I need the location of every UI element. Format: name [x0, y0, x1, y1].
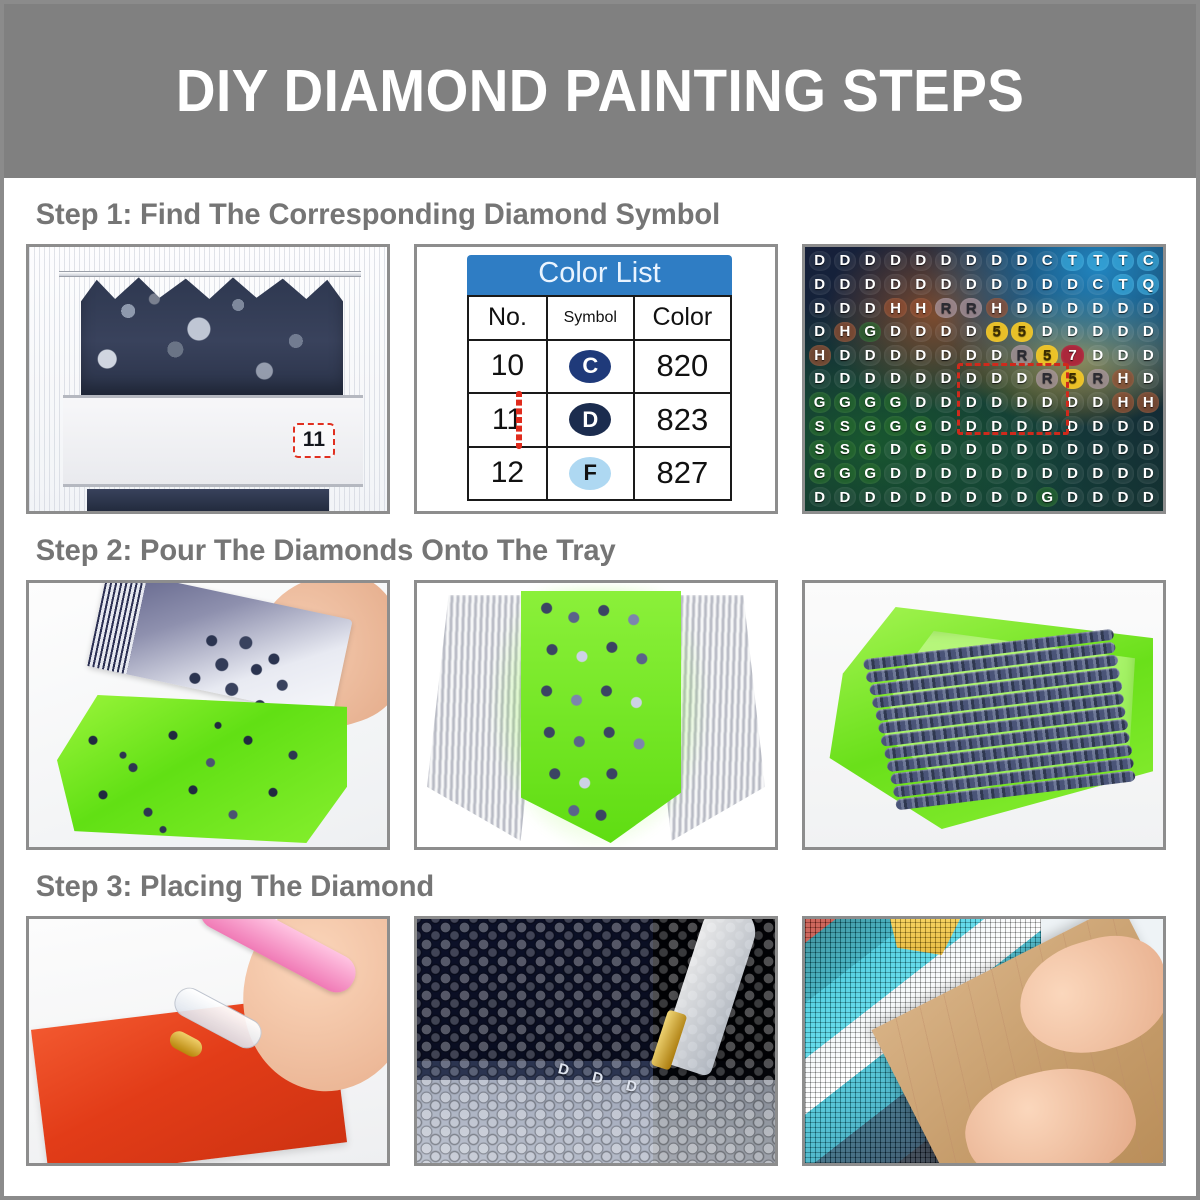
chart-cell: D [1110, 320, 1135, 344]
chart-cell: R [959, 296, 984, 320]
chart-cell: H [984, 296, 1009, 320]
chart-cell: D [1085, 485, 1110, 509]
chart-cell: D [832, 367, 857, 391]
chart-cell: D [858, 249, 883, 273]
chart-cell: D [959, 438, 984, 462]
cell-symbol: C [547, 340, 634, 393]
chart-cell: D [1136, 344, 1161, 368]
chart-cell: D [883, 485, 908, 509]
chart-cell: C [1085, 273, 1110, 297]
cell-color-code: 820 [634, 340, 731, 393]
chart-cell: D [984, 273, 1009, 297]
chart-cell: D [1085, 320, 1110, 344]
chart-cell: D [959, 485, 984, 509]
chart-cell: G [883, 391, 908, 415]
chart-cell: D [1060, 320, 1085, 344]
chart-cell: G [858, 462, 883, 486]
chart-cell: D [908, 273, 933, 297]
chart-cell: D [908, 367, 933, 391]
chart-cell: D [1009, 438, 1034, 462]
chart-cell: D [933, 485, 958, 509]
chart-cell: D [832, 344, 857, 368]
chart-cell: D [933, 462, 958, 486]
chart-cell: D [807, 296, 832, 320]
chart-cell: D [883, 320, 908, 344]
chart-cell: D [1035, 462, 1060, 486]
chart-cell: G [908, 438, 933, 462]
panel-shake-tray [414, 580, 778, 850]
chart-cell: G [858, 391, 883, 415]
step-2-panels [26, 580, 1174, 850]
chart-cell: H [832, 320, 857, 344]
chart-cell: G [858, 438, 883, 462]
chart-cell: C [1035, 249, 1060, 273]
chart-cell: D [807, 320, 832, 344]
chart-cell: D [1060, 438, 1085, 462]
chart-cell: R [933, 296, 958, 320]
panel-pour-into-tray [26, 580, 390, 850]
chart-highlight-box [957, 363, 1069, 435]
chart-cell: D [959, 462, 984, 486]
chart-cell: D [858, 296, 883, 320]
chart-cell: D [1136, 296, 1161, 320]
chart-cell: D [858, 367, 883, 391]
chart-cell: D [832, 273, 857, 297]
chart-cell: G [807, 462, 832, 486]
chart-cell: D [959, 273, 984, 297]
chart-cell: G [832, 462, 857, 486]
step-1-heading: Step 1: Find The Corresponding Diamond S… [26, 182, 1140, 244]
panel-pen-wax-pad [26, 916, 390, 1166]
chart-cell: D [832, 249, 857, 273]
chart-cell: D [1009, 485, 1034, 509]
page-title: DIY DIAMOND PAINTING STEPS [176, 57, 1024, 125]
chart-cell: D [1009, 462, 1034, 486]
step-2-block: Step 2: Pour The Diamonds Onto The Tray [26, 518, 1174, 850]
scattered-diamonds-in-tray [73, 713, 323, 837]
column-header-symbol: Symbol [547, 296, 634, 340]
step-3-block: Step 3: Placing The Diamond [26, 854, 1174, 1166]
chart-cell: D [883, 367, 908, 391]
page-banner: DIY DIAMOND PAINTING STEPS [4, 4, 1196, 178]
chart-cell: G [908, 414, 933, 438]
chart-cell: D [1085, 438, 1110, 462]
chart-cell: D [933, 414, 958, 438]
chart-cell: H [908, 296, 933, 320]
chart-cell: D [908, 391, 933, 415]
chart-cell: D [908, 320, 933, 344]
chart-cell: D [1085, 344, 1110, 368]
row-highlight-box [516, 391, 522, 448]
chart-cell: D [883, 249, 908, 273]
chart-cell: T [1060, 249, 1085, 273]
bag-zip-seam [59, 271, 361, 277]
color-list-row[interactable]: 11D823 [468, 393, 731, 446]
color-list-header-row: No.SymbolColor [468, 296, 731, 340]
symbol-dot-icon: D [569, 403, 611, 436]
chart-cell: D [832, 485, 857, 509]
chart-cell: D [933, 438, 958, 462]
chart-cell: H [1136, 391, 1161, 415]
chart-cell: G [832, 391, 857, 415]
color-list-card: Color List No.SymbolColor10C82011D82312F… [467, 255, 732, 501]
chart-cell: T [1085, 249, 1110, 273]
chart-cell: H [883, 296, 908, 320]
chart-cell: D [883, 462, 908, 486]
cell-color-code: 823 [634, 393, 731, 446]
chart-cell: D [1136, 320, 1161, 344]
panel-symbol-chart: DDDDDDDDDCTTTCDDDDDDDDDDDCTQDDDHHRRHDDDD… [802, 244, 1166, 514]
chart-cell: D [984, 249, 1009, 273]
chart-cell: G [1035, 485, 1060, 509]
chart-cell: D [1136, 367, 1161, 391]
chart-cell: S [807, 438, 832, 462]
chart-cell: D [984, 462, 1009, 486]
chart-cell: G [807, 391, 832, 415]
step-1-block: Step 1: Find The Corresponding Diamond S… [26, 182, 1174, 514]
chart-cell: D [1035, 438, 1060, 462]
chart-cell: C [1136, 249, 1161, 273]
chart-cell: D [883, 273, 908, 297]
chart-cell: R [1085, 367, 1110, 391]
steps-container: Step 1: Find The Corresponding Diamond S… [4, 182, 1196, 1166]
chart-cell: D [807, 485, 832, 509]
step-3-heading: Step 3: Placing The Diamond [26, 854, 1140, 916]
chart-cell: D [1060, 296, 1085, 320]
cell-color-code: 827 [634, 447, 731, 500]
chart-cell: S [832, 438, 857, 462]
chart-cell: D [984, 485, 1009, 509]
chart-cell: D [858, 273, 883, 297]
chart-cell: D [858, 485, 883, 509]
chart-cell: D [908, 462, 933, 486]
panel-diamond-bag: 11 [26, 244, 390, 514]
color-list-row[interactable]: 12F827 [468, 447, 731, 500]
chart-cell: D [883, 344, 908, 368]
chart-cell: 5 [984, 320, 1009, 344]
chart-cell: D [1085, 296, 1110, 320]
chart-cell: T [1110, 273, 1135, 297]
chart-cell: D [1110, 485, 1135, 509]
chart-cell: D [1085, 391, 1110, 415]
chart-cell: D [908, 485, 933, 509]
bag-number-badge: 11 [293, 423, 335, 458]
chart-cell: G [883, 414, 908, 438]
chart-cell: H [1110, 391, 1135, 415]
chart-cell: D [1035, 273, 1060, 297]
chart-cell: D [1110, 414, 1135, 438]
chart-cell: D [1085, 414, 1110, 438]
color-list-title: Color List [467, 255, 732, 295]
chart-cell: D [959, 249, 984, 273]
chart-cell: D [959, 320, 984, 344]
chart-cell: G [858, 414, 883, 438]
chart-cell: D [1009, 296, 1034, 320]
color-list-table: No.SymbolColor10C82011D82312F827 [467, 295, 732, 501]
chart-cell: D [1110, 296, 1135, 320]
chart-cell: D [1060, 273, 1085, 297]
panel-press-notebook: Note Book [802, 916, 1166, 1166]
bag-lower-beads [87, 489, 329, 511]
chart-cell: Q [1136, 273, 1161, 297]
step-2-heading: Step 2: Pour The Diamonds Onto The Tray [26, 518, 1140, 580]
chart-cell: D [1110, 344, 1135, 368]
cell-symbol: D [547, 393, 634, 446]
chart-cell: S [807, 414, 832, 438]
panel-aligned-tray [802, 580, 1166, 850]
chart-cell: D [807, 249, 832, 273]
chart-cell: D [1110, 438, 1135, 462]
cell-no: 12 [468, 447, 547, 500]
chart-cell: G [858, 320, 883, 344]
chart-cell: D [933, 367, 958, 391]
chart-cell: D [1110, 462, 1135, 486]
infographic-page: DIY DIAMOND PAINTING STEPS Step 1: Find … [0, 0, 1200, 1200]
chart-cell: D [1009, 249, 1034, 273]
chart-cell: D [1035, 296, 1060, 320]
chart-cell: D [1136, 462, 1161, 486]
chart-cell: D [908, 249, 933, 273]
chart-cell: D [883, 438, 908, 462]
chart-cell: D [1060, 485, 1085, 509]
chart-cell: D [858, 344, 883, 368]
column-header-no: No. [468, 296, 547, 340]
chart-cell: T [1110, 249, 1135, 273]
chart-cell: D [1085, 462, 1110, 486]
chart-cell: D [1009, 273, 1034, 297]
chart-cell: D [908, 344, 933, 368]
chart-cell: D [1060, 462, 1085, 486]
chart-cell: 5 [1009, 320, 1034, 344]
chart-cell: D [984, 438, 1009, 462]
chart-cell: H [1110, 367, 1135, 391]
chart-cell: D [1136, 414, 1161, 438]
step-3-panels: D D D [26, 916, 1174, 1166]
chart-cell: D [1136, 438, 1161, 462]
panel-place-diamond: D D D [414, 916, 778, 1166]
cell-no: 11 [468, 393, 547, 446]
chart-cell: D [1035, 320, 1060, 344]
chart-cell: D [933, 344, 958, 368]
panel-color-list: Color List No.SymbolColor10C82011D82312F… [414, 244, 778, 514]
step-1-panels: 11 Color List No.SymbolColor10C82011D823… [26, 244, 1174, 514]
chart-cell: H [807, 344, 832, 368]
color-list-row[interactable]: 10C820 [468, 340, 731, 393]
chart-cell: D [1136, 485, 1161, 509]
chart-cell: D [807, 273, 832, 297]
chart-cell: D [807, 367, 832, 391]
chart-cell: D [933, 249, 958, 273]
chart-cell: D [933, 320, 958, 344]
chart-cell: D [832, 296, 857, 320]
aligned-diamond-rows [858, 617, 1144, 816]
chart-cell: D [933, 273, 958, 297]
chart-cell: S [832, 414, 857, 438]
cell-symbol: F [547, 447, 634, 500]
cell-no: 10 [468, 340, 547, 393]
diamonds-settling [533, 599, 669, 829]
symbol-dot-icon: F [569, 457, 611, 490]
chart-cell: D [933, 391, 958, 415]
column-header-color: Color [634, 296, 731, 340]
symbol-dot-icon: C [569, 350, 611, 383]
